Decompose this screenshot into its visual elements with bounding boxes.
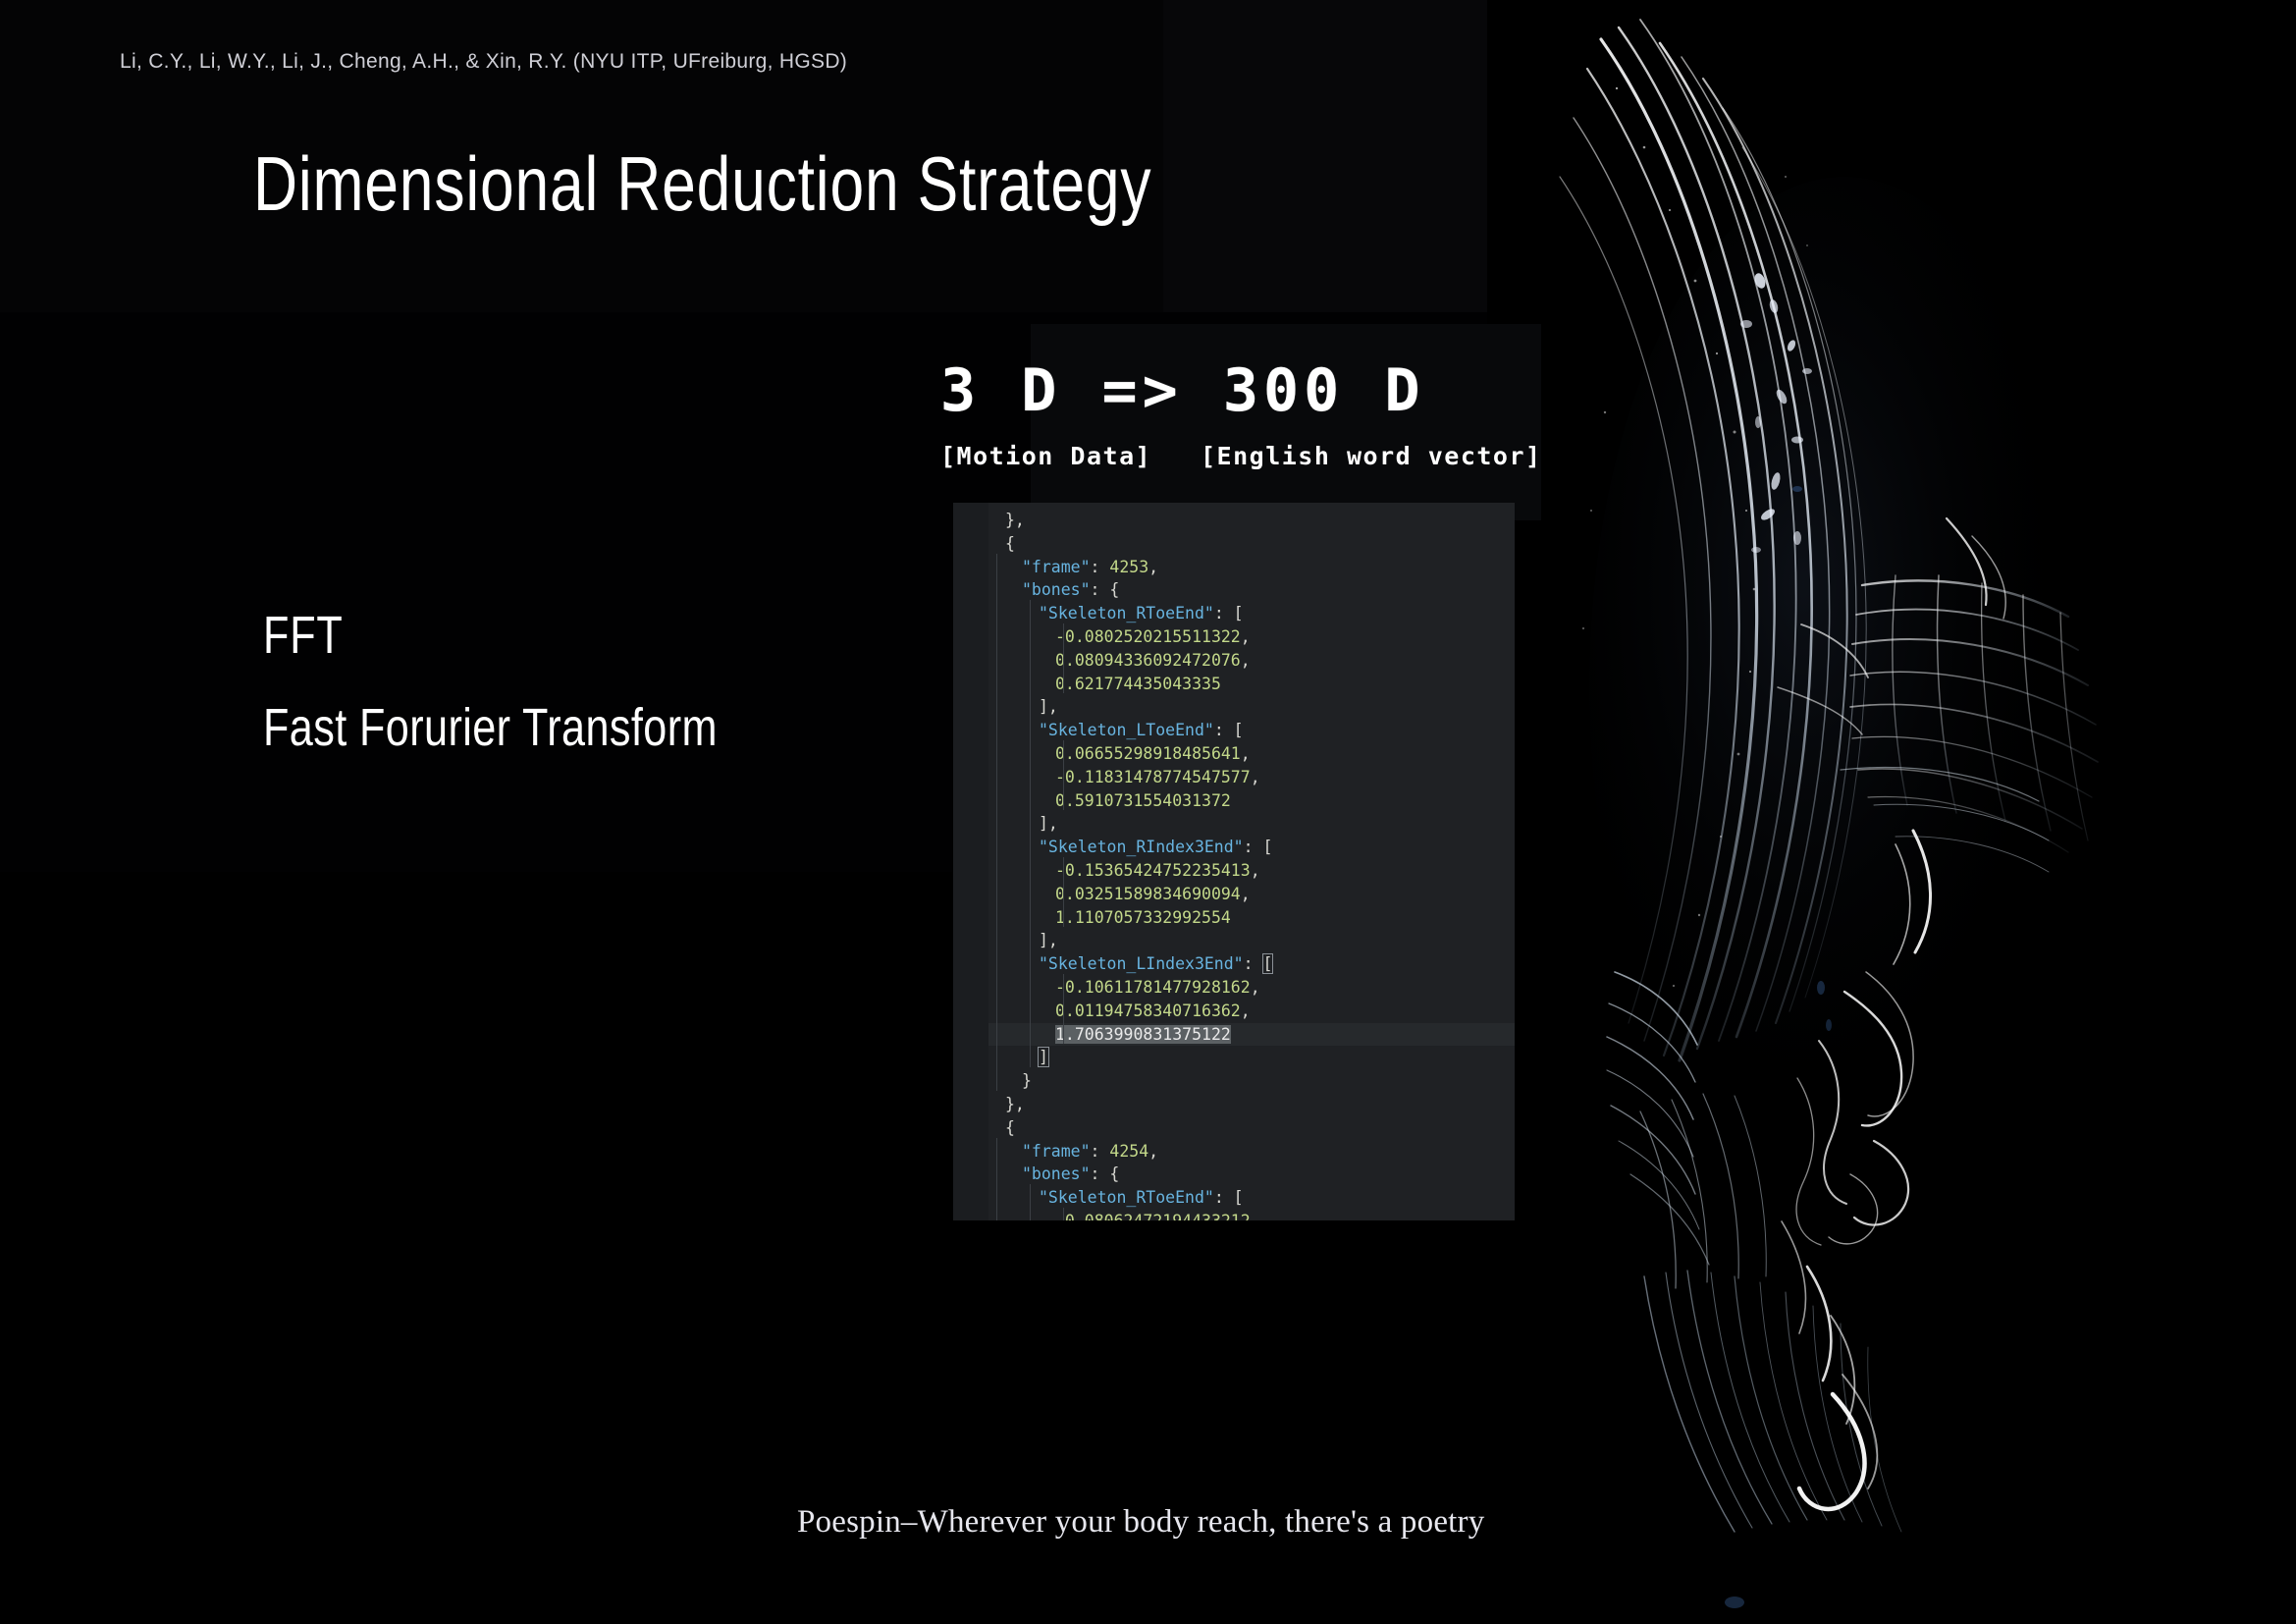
motion-trail-artwork: [1550, 0, 2296, 1624]
code-token: ,: [1251, 768, 1260, 786]
code-token: "frame": [1022, 1142, 1091, 1161]
code-line-text: 0.01194758340716362,: [988, 1001, 1251, 1020]
code-token: ,: [1241, 627, 1251, 646]
indent-guide: [1030, 1021, 1031, 1045]
indent-guide: [1030, 927, 1031, 950]
project-caption: Poespin–Wherever your body reach, there'…: [797, 1504, 1484, 1541]
code-line-text: "bones": {: [988, 580, 1119, 599]
code-token: "Skeleton_LToeEnd": [1039, 721, 1214, 739]
code-token: 0.08094336092472076: [1055, 651, 1241, 670]
indent-guide: [996, 764, 997, 787]
code-line: 0.06655298918485641,: [988, 742, 1515, 766]
code-token: ],: [1039, 697, 1058, 716]
code-line-text: {: [988, 1118, 1015, 1137]
code-token: ,: [1241, 744, 1251, 763]
indent-guide: [1063, 974, 1064, 998]
code-line: -0.0802520215511322,: [988, 625, 1515, 649]
indent-guide: [1030, 834, 1031, 857]
code-line: "bones": {: [988, 578, 1515, 602]
indent-guide: [1030, 881, 1031, 904]
code-token: 4254: [1109, 1142, 1148, 1161]
code-line: {: [988, 532, 1515, 556]
code-line-text: "frame": 4254,: [988, 1142, 1158, 1161]
indent-guide: [1030, 1044, 1031, 1067]
code-line: ],: [988, 929, 1515, 952]
indent-guide: [1063, 904, 1064, 928]
indent-guide: [1030, 1208, 1031, 1220]
code-line-text: "Skeleton_RIndex3End": [: [988, 838, 1272, 856]
code-line-text: "frame": 4253,: [988, 558, 1158, 576]
indent-guide: [1063, 1021, 1064, 1045]
code-line-text: 0.08094336092472076,: [988, 651, 1251, 670]
code-token: "frame": [1022, 558, 1091, 576]
indent-guide: [996, 647, 997, 671]
code-line: "Skeleton_RToeEnd": [: [988, 1186, 1515, 1210]
indent-guide: [1063, 1208, 1064, 1220]
indent-guide: [996, 998, 997, 1021]
code-token: ,: [1241, 1001, 1251, 1020]
indent-guide: [1063, 764, 1064, 787]
code-line: -0.11831478774547577,: [988, 766, 1515, 789]
fft-block: FFT Fast Forurier Transform: [263, 609, 718, 754]
indent-guide: [1030, 740, 1031, 764]
indent-guide: [1063, 998, 1064, 1021]
word-vector-label: [English word vector]: [1201, 442, 1542, 470]
dimension-headline: 3 D => 300 D: [940, 361, 1542, 420]
code-line-text: -0.0802520215511322,: [988, 627, 1251, 646]
code-line: 0.621774435043335: [988, 673, 1515, 696]
indent-guide: [1030, 764, 1031, 787]
code-token: ,: [1241, 885, 1251, 903]
indent-guide: [996, 1021, 997, 1045]
code-line: 0.5910731554031372: [988, 789, 1515, 813]
code-token: 4253: [1109, 558, 1148, 576]
code-token: "Skeleton_RToeEnd": [1039, 604, 1214, 623]
code-line: ],: [988, 812, 1515, 836]
code-token: 0.01194758340716362: [1055, 1001, 1241, 1020]
code-token: ,: [1251, 1212, 1260, 1220]
code-token: }: [1022, 1071, 1032, 1090]
code-line-text: 1.7063990831375122: [988, 1025, 1231, 1044]
code-line-text: {: [988, 534, 1015, 553]
code-line: 0.03251589834690094,: [988, 883, 1515, 906]
code-token: :: [1091, 558, 1110, 576]
code-token: "bones": [1022, 1164, 1091, 1183]
indent-guide: [1063, 857, 1064, 881]
indent-guide: [996, 623, 997, 647]
code-line-text: "Skeleton_RToeEnd": [: [988, 1188, 1244, 1207]
code-token: {: [1005, 534, 1015, 553]
code-token: },: [1005, 1095, 1025, 1113]
code-token: -0.15365424752235413: [1055, 861, 1251, 880]
code-token: ],: [1039, 814, 1058, 833]
indent-guide: [1063, 881, 1064, 904]
indent-guide: [1063, 671, 1064, 694]
code-lines: },{"frame": 4253,"bones": {"Skeleton_RTo…: [988, 509, 1515, 1220]
indent-guide: [996, 904, 997, 928]
code-line: -0.15365424752235413,: [988, 859, 1515, 883]
code-token: -0.08062472194433212: [1055, 1212, 1251, 1220]
code-token: "Skeleton_RToeEnd": [1039, 1188, 1214, 1207]
indent-guide: [996, 857, 997, 881]
code-line: 1.7063990831375122: [988, 1023, 1515, 1047]
indent-guide: [996, 1138, 997, 1162]
indent-guide: [996, 554, 997, 577]
indent-guide: [996, 693, 997, 717]
code-line-text: 0.5910731554031372: [988, 791, 1231, 810]
code-line: "Skeleton_RIndex3End": [: [988, 836, 1515, 859]
code-line: ]: [988, 1046, 1515, 1069]
code-line-text: ],: [988, 931, 1058, 949]
code-token: ,: [1241, 651, 1251, 670]
code-token: ,: [1148, 1142, 1158, 1161]
indent-guide: [1063, 647, 1064, 671]
code-token: : [: [1244, 838, 1273, 856]
code-line: "frame": 4253,: [988, 556, 1515, 579]
code-line-text: 0.06655298918485641,: [988, 744, 1251, 763]
code-line-text: 1.1107057332992554: [988, 908, 1231, 927]
code-token: ]: [1039, 1048, 1048, 1066]
code-token: : [: [1214, 604, 1244, 623]
code-line-text: ],: [988, 697, 1058, 716]
code-token: -0.11831478774547577: [1055, 768, 1251, 786]
indent-guide: [1063, 623, 1064, 647]
code-token: [: [1263, 954, 1273, 973]
indent-guide: [996, 834, 997, 857]
code-token: -0.0802520215511322: [1055, 627, 1241, 646]
indent-guide: [996, 1044, 997, 1067]
dimension-labels: [Motion Data] [English word vector]: [940, 442, 1542, 470]
code-line-text: 0.621774435043335: [988, 675, 1221, 693]
code-line-text: "Skeleton_LToeEnd": [: [988, 721, 1244, 739]
code-token: "Skeleton_RIndex3End": [1039, 838, 1244, 856]
indent-guide: [996, 600, 997, 623]
code-line: ],: [988, 695, 1515, 719]
code-line: "Skeleton_RToeEnd": [: [988, 602, 1515, 625]
indent-guide: [996, 950, 997, 974]
indent-guide: [996, 740, 997, 764]
code-token: : {: [1091, 1164, 1120, 1183]
code-line: 0.01194758340716362,: [988, 1000, 1515, 1023]
code-token: -0.10611781477928162: [1055, 978, 1251, 997]
code-token: 0.621774435043335: [1055, 675, 1221, 693]
indent-guide: [996, 810, 997, 834]
code-line-text: "Skeleton_LIndex3End": [: [988, 954, 1272, 973]
code-token: ,: [1251, 978, 1260, 997]
indent-guide: [1030, 717, 1031, 740]
code-line: "Skeleton_LToeEnd": [: [988, 719, 1515, 742]
code-line-text: "bones": {: [988, 1164, 1119, 1183]
code-token: 1.1107057332992554: [1055, 908, 1231, 927]
code-line: -0.08062472194433212,: [988, 1210, 1515, 1220]
tone-panel-b: [1163, 0, 1487, 312]
indent-guide: [1030, 998, 1031, 1021]
code-token: {: [1005, 1118, 1015, 1137]
indent-guide: [1030, 950, 1031, 974]
code-line: },: [988, 1093, 1515, 1116]
code-line: 0.08094336092472076,: [988, 649, 1515, 673]
indent-guide: [1063, 787, 1064, 811]
indent-guide: [996, 1067, 997, 1091]
code-token: : {: [1091, 580, 1120, 599]
code-gutter: [953, 503, 988, 1220]
indent-guide: [996, 1161, 997, 1184]
code-line: "bones": {: [988, 1163, 1515, 1186]
code-token: "Skeleton_LIndex3End": [1039, 954, 1244, 973]
code-token: :: [1091, 1142, 1110, 1161]
code-token: "bones": [1022, 580, 1091, 599]
code-token: :: [1244, 954, 1263, 973]
code-line-text: "Skeleton_RToeEnd": [: [988, 604, 1244, 623]
code-token: : [: [1214, 1188, 1244, 1207]
slide-canvas: Li, C.Y., Li, W.Y., Li, J., Cheng, A.H.,…: [0, 0, 2296, 1624]
code-token: ,: [1148, 558, 1158, 576]
indent-guide: [996, 927, 997, 950]
indent-guide: [1030, 600, 1031, 623]
code-line: },: [988, 509, 1515, 532]
fft-full-name: Fast Forurier Transform: [263, 701, 718, 754]
indent-guide: [1030, 857, 1031, 881]
motion-data-label: [Motion Data]: [940, 442, 1201, 470]
indent-guide: [1063, 740, 1064, 764]
code-token: 1.7063990831375122: [1055, 1025, 1231, 1044]
code-line: 1.1107057332992554: [988, 906, 1515, 930]
code-token: },: [1005, 511, 1025, 529]
code-line-text: },: [988, 1095, 1025, 1113]
code-token: : [: [1214, 721, 1244, 739]
fft-abbreviation: FFT: [263, 609, 718, 662]
indent-guide: [1030, 671, 1031, 694]
indent-guide: [996, 1208, 997, 1220]
dimension-mapping-block: 3 D => 300 D [Motion Data] [English word…: [940, 361, 1542, 470]
code-line-text: },: [988, 511, 1025, 529]
indent-guide: [1030, 647, 1031, 671]
indent-guide: [996, 787, 997, 811]
author-citation: Li, C.Y., Li, W.Y., Li, J., Cheng, A.H.,…: [120, 50, 847, 74]
code-line: "Skeleton_LIndex3End": [: [988, 952, 1515, 976]
indent-guide: [1030, 787, 1031, 811]
code-line-text: ]: [988, 1048, 1048, 1066]
code-line-text: 0.03251589834690094,: [988, 885, 1251, 903]
indent-guide: [996, 974, 997, 998]
indent-guide: [1030, 1184, 1031, 1208]
indent-guide: [1030, 974, 1031, 998]
code-line-text: }: [988, 1071, 1032, 1090]
page-title: Dimensional Reduction Strategy: [253, 145, 1151, 222]
indent-guide: [996, 1184, 997, 1208]
indent-guide: [996, 717, 997, 740]
json-code-panel[interactable]: },{"frame": 4253,"bones": {"Skeleton_RTo…: [953, 503, 1515, 1220]
indent-guide: [996, 576, 997, 600]
code-line: {: [988, 1116, 1515, 1140]
code-line-text: ],: [988, 814, 1058, 833]
code-line: }: [988, 1069, 1515, 1093]
code-token: 0.5910731554031372: [1055, 791, 1231, 810]
code-token: ,: [1251, 861, 1260, 880]
code-token: 0.03251589834690094: [1055, 885, 1241, 903]
indent-guide: [996, 671, 997, 694]
indent-guide: [1030, 623, 1031, 647]
code-line: "frame": 4254,: [988, 1140, 1515, 1164]
code-token: ],: [1039, 931, 1058, 949]
code-token: 0.06655298918485641: [1055, 744, 1241, 763]
indent-guide: [1030, 810, 1031, 834]
code-line: -0.10611781477928162,: [988, 976, 1515, 1000]
indent-guide: [1030, 904, 1031, 928]
indent-guide: [996, 881, 997, 904]
indent-guide: [1030, 693, 1031, 717]
